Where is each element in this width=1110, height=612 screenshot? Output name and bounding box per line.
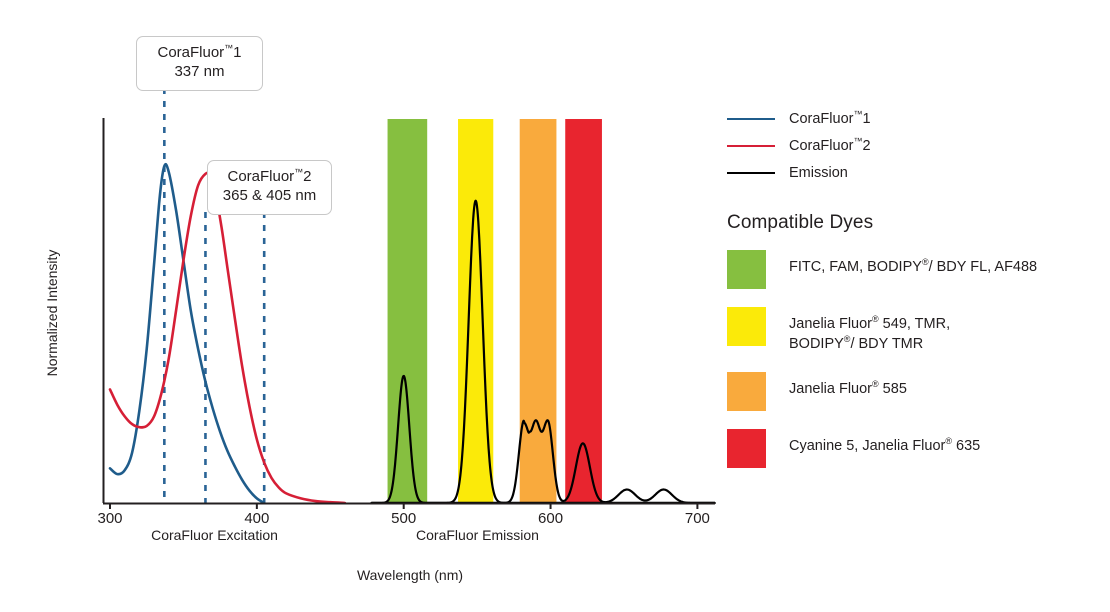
registered-icon: ®: [844, 334, 851, 344]
legend-line-label: CoraFluor™2: [789, 138, 871, 154]
registered-icon: ®: [872, 379, 879, 389]
callout-corafluor2: CoraFluor™2 365 & 405 nm: [207, 160, 332, 215]
x-tick-label-700: 700: [667, 510, 727, 527]
axis-sublabel-excitation: CoraFluor Excitation: [142, 527, 287, 543]
spectra-chart: CoraFluor™1 337 nm CoraFluor™2 365 & 405…: [0, 0, 720, 612]
legend-line-label: Emission: [789, 165, 848, 181]
x-tick-label-400: 400: [227, 510, 287, 527]
dye-legend-row-2: Janelia Fluor® 549, TMR,BODIPY®/ BDY TMR: [727, 307, 1102, 354]
trademark-icon: ™: [853, 109, 862, 119]
dye-label-line: Janelia Fluor® 585: [789, 380, 907, 400]
legend-line-label: CoraFluor™1: [789, 111, 871, 127]
green-band: [388, 119, 428, 503]
trademark-icon: ™: [224, 43, 233, 53]
dye-label-line: Cyanine 5, Janelia Fluor® 635: [789, 437, 980, 457]
registered-icon: ®: [945, 436, 952, 446]
callout-2-line2: 365 & 405 nm: [220, 187, 319, 206]
dye-label-line: Janelia Fluor® 549, TMR,: [789, 315, 950, 335]
axis-sublabel-emission: CoraFluor Emission: [405, 527, 550, 543]
legend-line-row-1: CoraFluor™1: [727, 105, 1102, 132]
trademark-icon: ™: [853, 136, 862, 146]
dye-color-swatch: [727, 307, 766, 346]
y-axis-title: Normalized Intensity: [44, 228, 60, 398]
x-tick-label-300: 300: [80, 510, 140, 527]
legend-panel: CoraFluor™1CoraFluor™2Emission Compatibl…: [727, 105, 1102, 486]
legend-line-swatch: [727, 145, 775, 147]
x-tick-label-600: 600: [521, 510, 581, 527]
legend-line-row-2: CoraFluor™2: [727, 132, 1102, 159]
x-tick-label-500: 500: [374, 510, 434, 527]
dye-legend-label: FITC, FAM, BODIPY®/ BDY FL, AF488: [789, 250, 1037, 278]
dye-legend-label: Janelia Fluor® 585: [789, 372, 907, 400]
x-axis-title: Wavelength (nm): [300, 567, 520, 583]
dye-color-swatch: [727, 250, 766, 289]
dye-label-line: FITC, FAM, BODIPY®/ BDY FL, AF488: [789, 258, 1037, 278]
dye-legend-row-3: Janelia Fluor® 585: [727, 372, 1102, 411]
dye-legend-row-4: Cyanine 5, Janelia Fluor® 635: [727, 429, 1102, 468]
dye-band-group: [388, 119, 602, 503]
registered-icon: ®: [872, 314, 879, 324]
callout-2-line1: CoraFluor™2: [220, 168, 319, 187]
dye-legend-label: Janelia Fluor® 549, TMR,BODIPY®/ BDY TMR: [789, 307, 950, 354]
registered-icon: ®: [922, 257, 929, 267]
callout-1-line2: 337 nm: [149, 63, 250, 82]
legend-line-swatch: [727, 118, 775, 120]
line-legend-list: CoraFluor™1CoraFluor™2Emission: [727, 105, 1102, 186]
compatible-dyes-title: Compatible Dyes: [727, 212, 1102, 234]
curve-corafluor1: [110, 164, 264, 503]
callout-corafluor1: CoraFluor™1 337 nm: [136, 36, 263, 91]
dye-label-line: BODIPY®/ BDY TMR: [789, 335, 950, 355]
legend-line-row-3: Emission: [727, 159, 1102, 186]
legend-line-swatch: [727, 172, 775, 174]
compatible-dyes-list: FITC, FAM, BODIPY®/ BDY FL, AF488Janelia…: [727, 250, 1102, 468]
dye-color-swatch: [727, 372, 766, 411]
trademark-icon: ™: [294, 167, 303, 177]
dye-legend-row-1: FITC, FAM, BODIPY®/ BDY FL, AF488: [727, 250, 1102, 289]
dye-legend-label: Cyanine 5, Janelia Fluor® 635: [789, 429, 980, 457]
callout-1-line1: CoraFluor™1: [149, 44, 250, 63]
dye-color-swatch: [727, 429, 766, 468]
